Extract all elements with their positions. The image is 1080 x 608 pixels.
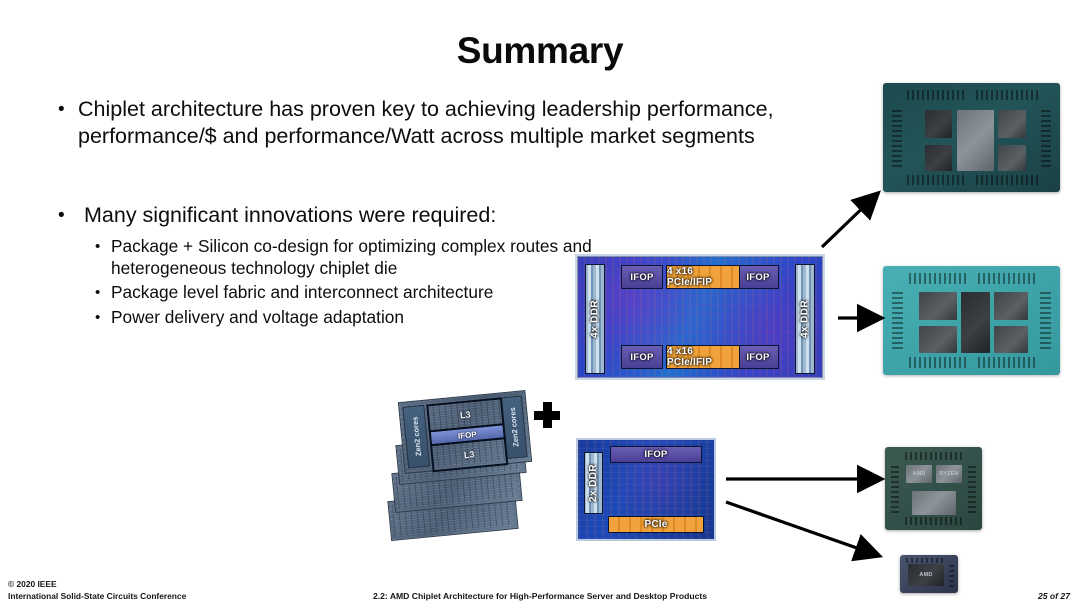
label-ddr-right: 4x DDR — [795, 264, 815, 374]
label-pcie-bottom: 4 x16 PCIe/IFIP — [666, 345, 740, 369]
bullet-list-primary: • Chiplet architecture has proven key to… — [58, 96, 578, 150]
ccd-stack-layer-1: Zen2 cores Zen2 cores L3 IFOP L3 — [398, 390, 532, 474]
label-ddr-left: 2x DDR — [584, 452, 603, 514]
chiplet-die-amd: AMD — [906, 465, 932, 483]
page-number: 25 of 27 — [1038, 591, 1070, 601]
label-ifop-top: IFOP — [610, 446, 702, 463]
io-die — [957, 110, 994, 171]
session-title: 2.2: AMD Chiplet Architecture for High-P… — [0, 591, 1080, 601]
package-pads — [909, 273, 967, 284]
sub-bullet-text: Package + Silicon co-design for optimizi… — [111, 236, 598, 279]
package-pads — [905, 517, 963, 525]
bullet-item-2: • Many significant innovations were requ… — [58, 202, 598, 229]
label-text: Zen2 cores — [410, 417, 423, 457]
bullet-marker: • — [58, 96, 78, 123]
sub-bullet-item-3: • Power delivery and voltage adaptation — [95, 307, 598, 329]
bullet-text: Chiplet architecture has proven key to a… — [78, 96, 848, 150]
label-ifop-bottom-left: IFOP — [621, 345, 663, 369]
package-pads — [892, 291, 903, 349]
sub-bullet-text: Package level fabric and interconnect ar… — [111, 282, 598, 304]
sub-bullet-item-2: • Package level fabric and interconnect … — [95, 282, 598, 304]
package-pads — [968, 465, 976, 513]
bullet-marker: • — [95, 236, 111, 258]
chiplet-die — [919, 292, 957, 320]
package-pads — [907, 175, 967, 185]
package-pads — [976, 90, 1038, 100]
package-pads — [906, 558, 946, 563]
label-ifop-bottom-right: IFOP — [737, 345, 779, 369]
chiplet-die — [994, 326, 1028, 353]
package-pads — [976, 175, 1038, 185]
package-pads — [978, 357, 1038, 368]
label-pcie-top: 4 x16 PCIe/IFIP — [666, 265, 740, 289]
label-pcie-bottom: PCIe — [608, 516, 704, 533]
package-pads — [905, 452, 963, 460]
arrow-to-mobile-package — [724, 496, 892, 568]
sub-bullet-list: • Package + Silicon co-design for optimi… — [95, 236, 598, 328]
package-pads — [909, 357, 967, 368]
arrow-to-ryzen-package — [724, 466, 892, 492]
slide-footer: © 2020 IEEE International Solid-State Ci… — [0, 568, 1080, 608]
server-io-die-image: 4x DDR 4x DDR IFOP IFOP IFOP IFOP 4 x16 … — [575, 254, 825, 380]
sub-bullet-text: Power delivery and voltage adaptation — [111, 307, 598, 329]
chiplet-die — [994, 292, 1028, 320]
bullet-list-secondary: • Many significant innovations were requ… — [58, 202, 598, 331]
package-pads — [978, 273, 1038, 284]
page-title: Summary — [0, 30, 1080, 72]
package-pads — [892, 107, 902, 167]
package-pads — [891, 465, 899, 513]
package-pads — [1041, 107, 1051, 167]
package-pads — [1040, 291, 1051, 349]
chiplet-die — [998, 110, 1026, 138]
io-die — [961, 292, 990, 353]
bullet-item-1: • Chiplet architecture has proven key to… — [58, 96, 848, 150]
label-ddr-left: 4x DDR — [585, 264, 605, 374]
label-ifop-top-left: IFOP — [621, 265, 663, 289]
chiplet-die — [998, 145, 1026, 171]
epyc-server-package-image — [883, 83, 1060, 192]
io-die — [912, 491, 956, 515]
bullet-marker: • — [58, 202, 84, 229]
plus-icon — [534, 402, 560, 428]
chiplet-die — [919, 326, 957, 353]
slide-canvas: Summary • Chiplet architecture has prove… — [0, 0, 1080, 608]
arrow-to-epyc-package — [820, 185, 900, 265]
package-pads — [907, 90, 967, 100]
client-io-die-image: 2x DDR IFOP PCIe — [576, 438, 716, 541]
chiplet-die — [925, 145, 952, 171]
bullet-marker: • — [95, 282, 111, 304]
sub-bullet-item-1: • Package + Silicon co-design for optimi… — [95, 236, 598, 279]
bullet-marker: • — [95, 307, 111, 329]
server-package-teal-image — [883, 266, 1060, 375]
arrow-to-teal-package — [836, 305, 890, 331]
chiplet-die-ryzen: RYZEN — [936, 465, 962, 483]
bullet-text: Many significant innovations were requir… — [84, 202, 598, 229]
copyright-text: © 2020 IEEE — [8, 578, 186, 590]
ryzen-desktop-package-image: AMD RYZEN — [885, 447, 982, 530]
chiplet-die — [925, 110, 952, 138]
label-text: Zen2 cores — [507, 407, 520, 447]
label-ifop-top-right: IFOP — [737, 265, 779, 289]
